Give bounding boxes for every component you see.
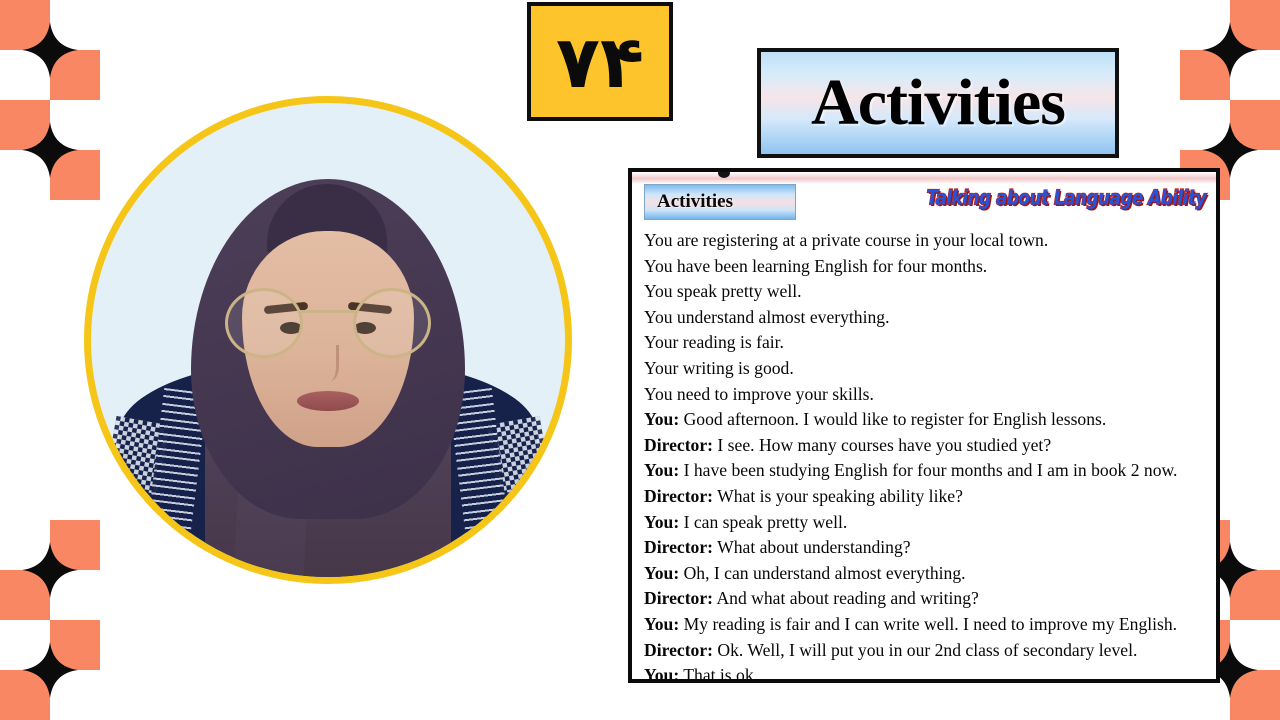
panel-header: Activities Talking about Language Abilit…	[632, 184, 1216, 228]
dialogue-text: I see. How many courses have you studied…	[713, 435, 1051, 455]
scenario-prompt-line: You speak pretty well.	[644, 279, 1208, 305]
dialogue-line: Director: I see. How many courses have y…	[644, 433, 1208, 459]
glasses-bridge	[300, 310, 356, 313]
dialogue-speaker: You:	[644, 563, 679, 583]
dialogue-text: And what about reading and writing?	[713, 588, 979, 608]
four-point-star-icon	[22, 122, 78, 178]
dialogue-text: Oh, I can understand almost everything.	[679, 563, 965, 583]
dialogue-speaker: You:	[644, 614, 679, 634]
dialogue-line: You: Oh, I can understand almost everyth…	[644, 561, 1208, 587]
presenter-portrait	[84, 96, 572, 584]
four-point-star-icon	[1202, 22, 1258, 78]
dialogue-line: Director: What about understanding?	[644, 535, 1208, 561]
dialogue-text: Ok. Well, I will put you in our 2nd clas…	[713, 640, 1137, 660]
corner-decoration-top-left	[0, 0, 178, 182]
activities-mini-banner: Activities	[644, 184, 796, 220]
lesson-body: You are registering at a private course …	[644, 228, 1208, 683]
dialogue-speaker: You:	[644, 512, 679, 532]
scenario-prompt-line: Your reading is fair.	[644, 330, 1208, 356]
dialogue-text: I can speak pretty well.	[679, 512, 847, 532]
dialogue-text: That is ok.	[679, 665, 758, 683]
scenario-prompt-line: You have been learning English for four …	[644, 254, 1208, 280]
dialogue-line: You: My reading is fair and I can write …	[644, 612, 1208, 638]
dialogue-text: What about understanding?	[713, 537, 911, 557]
lips	[297, 391, 359, 411]
scenario-prompt-line: You are registering at a private course …	[644, 228, 1208, 254]
dialogue-speaker: Director:	[644, 435, 713, 455]
dialogue-speaker: Director:	[644, 486, 713, 506]
dialogue-speaker: Director:	[644, 588, 713, 608]
dialogue-line: Director: Ok. Well, I will put you in ou…	[644, 638, 1208, 664]
glasses-lens	[353, 288, 431, 358]
page-number-box: ۷۴	[527, 2, 673, 121]
four-point-star-icon	[22, 542, 78, 598]
dialogue-line: You: Good afternoon. I would like to reg…	[644, 407, 1208, 433]
page-number: ۷۴	[556, 26, 644, 98]
dialogue-text: My reading is fair and I can write well.…	[679, 614, 1177, 634]
dialogue-speaker: Director:	[644, 640, 713, 660]
dialogue-list: You: Good afternoon. I would like to reg…	[644, 407, 1208, 683]
panel-top-strip	[632, 172, 1216, 184]
dialogue-text: What is your speaking ability like?	[713, 486, 963, 506]
dialogue-line: Director: And what about reading and wri…	[644, 586, 1208, 612]
lesson-content-panel: Activities Talking about Language Abilit…	[628, 168, 1220, 683]
dialogue-line: You: I can speak pretty well.	[644, 510, 1208, 536]
dialogue-text: Good afternoon. I would like to register…	[679, 409, 1106, 429]
corner-decoration-top-right	[1102, 0, 1280, 182]
four-point-star-icon	[22, 642, 78, 698]
glasses-lens	[225, 288, 303, 358]
scenario-prompt-list: You are registering at a private course …	[644, 228, 1208, 407]
dialogue-line: You: That is ok.	[644, 663, 1208, 683]
dialogue-speaker: You:	[644, 409, 679, 429]
dialogue-speaker: Director:	[644, 537, 713, 557]
dialogue-line: Director: What is your speaking ability …	[644, 484, 1208, 510]
lesson-title-wordart: Talking about Language Ability	[927, 186, 1206, 210]
dialogue-speaker: You:	[644, 665, 679, 683]
eyeglasses-icon	[225, 288, 431, 358]
activities-mini-banner-label: Activities	[657, 191, 733, 213]
four-point-star-icon	[22, 22, 78, 78]
scenario-prompt-line: You need to improve your skills.	[644, 382, 1208, 408]
scenario-prompt-line: You understand almost everything.	[644, 305, 1208, 331]
dialogue-line: You: I have been studying English for fo…	[644, 458, 1208, 484]
dialogue-text: I have been studying English for four mo…	[679, 460, 1177, 480]
scenario-prompt-line: Your writing is good.	[644, 356, 1208, 382]
dialogue-speaker: You:	[644, 460, 679, 480]
activities-banner-title: Activities	[811, 65, 1065, 141]
slide-canvas: ۷۴ Activities Activities Talking about L…	[0, 0, 1280, 720]
activities-banner: Activities	[757, 48, 1119, 158]
